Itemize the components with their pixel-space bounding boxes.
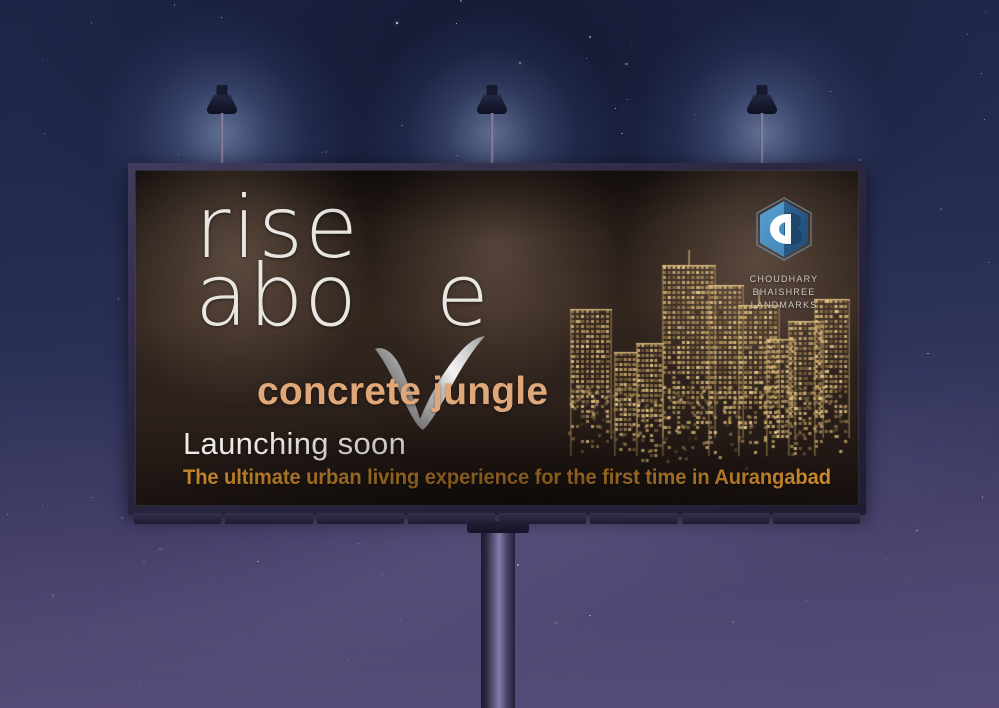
star (321, 152, 322, 153)
star (593, 598, 594, 599)
star (631, 45, 632, 46)
star (927, 353, 928, 354)
star (982, 496, 983, 497)
star (940, 208, 942, 210)
headline-above-suffix: e (436, 246, 490, 346)
star (859, 159, 861, 161)
billboard-tagline: concrete jungle (257, 370, 548, 414)
lamp-shade (747, 95, 777, 114)
star (159, 548, 161, 550)
star (91, 497, 92, 498)
star (460, 0, 461, 1)
company-name: CHOUDHARY BHAISHREE LANDMARKS (731, 273, 837, 311)
billboard-face: rise aboe (135, 170, 859, 506)
star (984, 119, 985, 120)
star (457, 155, 458, 156)
star (7, 514, 8, 515)
lamp-cap (757, 85, 768, 96)
star (178, 154, 179, 155)
star (91, 22, 92, 23)
billboard-subline: The ultimate urban living experience for… (183, 466, 831, 490)
billboard-support-mast (481, 524, 515, 708)
lamp-cap (487, 85, 498, 96)
star (584, 631, 585, 632)
billboard-tab (590, 513, 677, 524)
star (962, 198, 963, 199)
star (589, 36, 590, 37)
star (695, 114, 696, 115)
headline-above-prefix: abo (195, 246, 358, 346)
lamp-cap (217, 85, 228, 96)
star (870, 334, 871, 335)
star (969, 490, 970, 491)
lamp-shade (477, 95, 507, 114)
star (221, 17, 222, 18)
star (42, 505, 43, 506)
billboard-tab (317, 513, 404, 524)
star (140, 683, 141, 684)
star (519, 62, 521, 64)
star (830, 91, 831, 92)
star (981, 73, 982, 74)
star (615, 108, 616, 109)
company-name-line-3: LANDMARKS (731, 299, 837, 312)
billboard-tab (134, 513, 221, 524)
star (215, 608, 216, 609)
star (916, 530, 917, 531)
star (625, 63, 627, 65)
star (211, 680, 212, 681)
star (517, 564, 518, 565)
star (325, 151, 327, 153)
star (400, 619, 401, 620)
star (830, 665, 831, 666)
billboard-launching-text: Launching soon (183, 426, 406, 462)
billboard-panel: rise aboe (128, 163, 866, 515)
star (622, 109, 623, 110)
star (586, 58, 587, 59)
star (456, 23, 457, 24)
star (401, 125, 402, 126)
star (330, 569, 331, 570)
star (143, 561, 145, 563)
star (621, 133, 622, 134)
star (806, 600, 807, 601)
hexagon-cb-logo-icon (755, 197, 813, 261)
billboard-tab (225, 513, 312, 524)
lamp-shade (207, 95, 237, 114)
billboard-tab (682, 513, 769, 524)
star (118, 298, 119, 299)
star (396, 22, 398, 24)
star (52, 594, 53, 595)
star (332, 623, 333, 624)
company-name-line-2: BHAISHREE (731, 286, 837, 299)
company-name-line-1: CHOUDHARY (731, 273, 837, 286)
star (382, 574, 383, 575)
company-logo-block: CHOUDHARY BHAISHREE LANDMARKS (731, 197, 837, 311)
billboard-tab (408, 513, 495, 524)
star (358, 543, 359, 544)
star (732, 621, 734, 623)
billboard-scene: rise aboe (0, 0, 999, 708)
star (988, 262, 989, 263)
star (985, 12, 986, 13)
star (44, 133, 45, 134)
star (42, 60, 43, 61)
star (910, 581, 911, 582)
star (627, 99, 628, 100)
star (348, 660, 349, 661)
billboard-tab (773, 513, 860, 524)
star (121, 517, 123, 519)
star (257, 561, 258, 562)
star (52, 597, 53, 598)
star (555, 622, 557, 624)
star (886, 559, 887, 560)
star (174, 4, 175, 5)
star (967, 34, 968, 35)
billboard-headline: rise aboe (195, 192, 490, 334)
headline-line-above: aboe (195, 260, 490, 334)
billboard-tab (499, 513, 586, 524)
billboard-bottom-tabs (134, 513, 860, 524)
star (589, 615, 590, 616)
